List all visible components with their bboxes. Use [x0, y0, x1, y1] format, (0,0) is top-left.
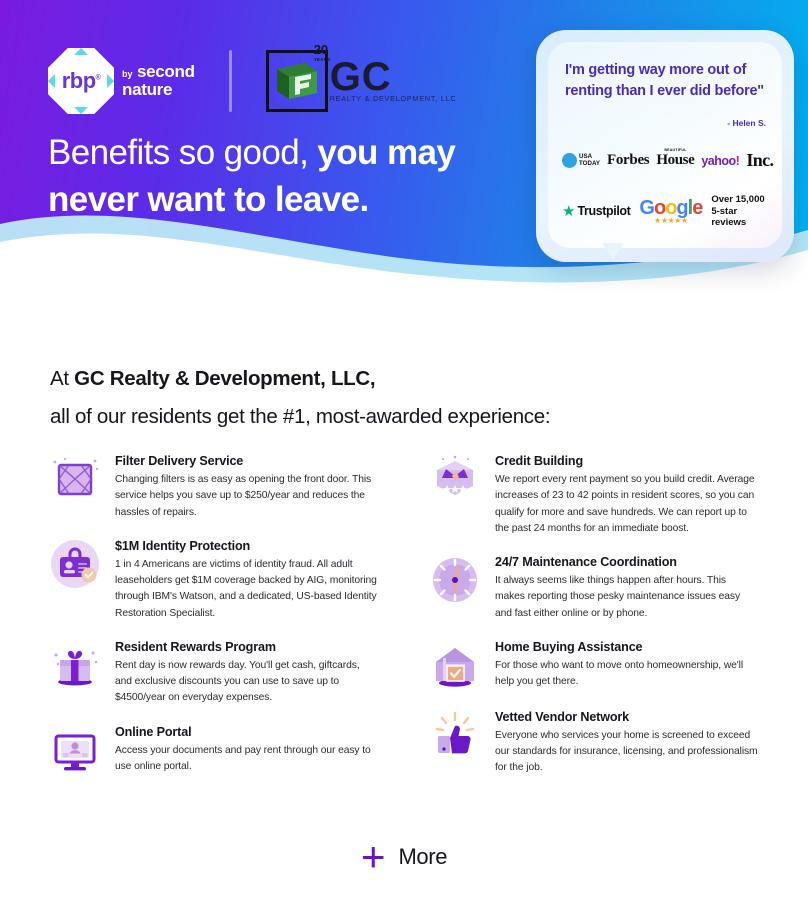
review-count-line1: Over 15,000	[711, 194, 772, 206]
review-logo-row: ★ Trustpilot Google ★★★★★ Over 15,000 5-…	[562, 194, 772, 229]
benefit-description: 1 in 4 Americans are victims of identity…	[115, 557, 378, 622]
trustpilot-logo-icon: ★ Trustpilot	[562, 204, 630, 219]
review-count-text: Over 15,000 5-star reviews	[711, 194, 772, 229]
benefit-title: 24/7 Maintenance Coordination	[495, 555, 758, 569]
hero-banner: rbp® by second nature GC REALTY & DEVELO…	[0, 0, 808, 300]
benefit-body: Online Portal Access your documents and …	[115, 723, 378, 776]
hero-headline-part2: you may	[317, 133, 455, 172]
usa-today-text: USA TODAY	[579, 154, 600, 167]
benefit-body: Resident Rewards Program Rent day is now…	[115, 638, 378, 707]
logo-divider	[229, 50, 232, 112]
benefit-item-resident-rewards: Resident Rewards Program Rent day is now…	[48, 638, 378, 707]
second-nature-line1: second	[137, 62, 195, 81]
benefit-title: Filter Delivery Service	[115, 454, 378, 468]
gc-initials: GC	[330, 59, 457, 95]
benefit-description: Rent day is now rewards day. You'll get …	[115, 658, 378, 707]
benefit-body: Filter Delivery Service Changing filters…	[115, 452, 378, 521]
benefit-item-identity-protection: $1M Identity Protection 1 in 4 Americans…	[48, 537, 378, 622]
benefit-title: $1M Identity Protection	[115, 539, 378, 553]
benefit-item-vendor-network: Vetted Vendor Network Everyone who servi…	[428, 708, 758, 777]
house-sign-icon	[428, 638, 482, 692]
heading-company: GC Realty & Development, LLC,	[74, 367, 375, 390]
clock-icon	[428, 553, 482, 607]
plus-icon[interactable]: +	[361, 840, 386, 874]
benefit-body: Credit Building We report every rent pay…	[495, 452, 758, 537]
usa-today-logo-icon: USA TODAY	[562, 153, 600, 168]
benefit-description: For those who want to move onto homeowne…	[495, 658, 758, 691]
forbes-logo-icon: Forbes	[607, 152, 649, 169]
testimonial-card-inner: I'm getting way more out of renting than…	[548, 42, 782, 248]
benefit-title: Credit Building	[495, 454, 758, 468]
benefit-description: Everyone who services your home is scree…	[495, 728, 758, 777]
brand-logo-row: rbp® by second nature GC REALTY & DEVELO…	[48, 45, 456, 117]
gc-subtitle: REALTY & DEVELOPMENT, LLC	[330, 96, 457, 102]
rbp-logo-icon: rbp®	[48, 48, 114, 114]
testimonial-card: I'm getting way more out of renting than…	[536, 30, 794, 262]
gc-text-block: GC REALTY & DEVELOPMENT, LLC	[330, 59, 457, 102]
heading-prefix: At	[50, 367, 74, 390]
credit-badge-icon	[428, 452, 482, 506]
section-heading: At GC Realty & Development, LLC, all of …	[50, 360, 750, 436]
yahoo-exclamation: !	[736, 154, 740, 168]
usa-today-dot	[562, 153, 577, 168]
rbp-wordmark: rbp®	[62, 68, 101, 94]
benefit-item-online-portal: Online Portal Access your documents and …	[48, 723, 378, 777]
benefit-body: 24/7 Maintenance Coordination It always …	[495, 553, 758, 622]
benefits-column-right: Credit Building We report every rent pay…	[428, 452, 758, 793]
benefit-body: Vetted Vendor Network Everyone who servi…	[495, 708, 758, 777]
benefit-item-maintenance: 24/7 Maintenance Coordination It always …	[428, 553, 758, 622]
more-label[interactable]: More	[399, 844, 448, 870]
heading-line2: all of our residents get the #1, most-aw…	[50, 398, 750, 436]
second-nature-line2: nature	[122, 81, 195, 99]
hero-headline-part1: Benefits so good,	[48, 133, 317, 172]
benefit-description: Access your documents and pay rent throu…	[115, 743, 378, 776]
house-beautiful-super: BEAUTIFUL	[664, 148, 686, 152]
trustpilot-label: Trustpilot	[577, 204, 630, 218]
filter-icon	[48, 452, 102, 506]
thumbs-up-icon	[428, 708, 482, 762]
second-nature-wordmark: by second nature	[122, 63, 195, 99]
hero-headline: Benefits so good, you may never want to …	[48, 130, 518, 223]
benefit-body: Home Buying Assistance For those who wan…	[495, 638, 758, 691]
gc-book-mark-icon	[275, 61, 319, 101]
testimonial-attribution: - Helen S.	[727, 118, 766, 128]
benefit-item-filter-delivery: Filter Delivery Service Changing filters…	[48, 452, 378, 521]
hero-headline-line2: never want to leave.	[48, 177, 518, 224]
benefit-title: Online Portal	[115, 725, 378, 739]
benefit-description: It always seems like things happen after…	[495, 573, 758, 622]
gc-anniversary-sub: YEARS	[314, 57, 331, 62]
benefits-column-left: Filter Delivery Service Changing filters…	[48, 452, 378, 793]
benefit-title: Vetted Vendor Network	[495, 710, 758, 724]
benefit-item-credit-building: Credit Building We report every rent pay…	[428, 452, 758, 537]
second-nature-by: by	[122, 70, 133, 79]
more-row[interactable]: + More	[0, 840, 808, 874]
benefit-title: Home Buying Assistance	[495, 640, 758, 654]
benefit-description: We report every rent payment so you buil…	[495, 472, 758, 537]
review-count-line2: 5-star reviews	[711, 206, 772, 229]
google-logo-block: Google ★★★★★	[639, 198, 702, 225]
inc-logo-icon: Inc.	[746, 150, 773, 171]
yahoo-logo-icon: yahoo!	[701, 154, 739, 168]
benefit-title: Resident Rewards Program	[115, 640, 378, 654]
google-logo-icon: Google	[639, 198, 702, 218]
benefit-item-home-buying: Home Buying Assistance For those who wan…	[428, 638, 758, 692]
gc-anniversary-badge: 20 YEARS	[314, 42, 331, 62]
press-logo-row: USA TODAY Forbes BEAUTIFUL House yahoo! …	[562, 150, 772, 171]
testimonial-quote: I'm getting way more out of renting than…	[565, 60, 768, 102]
monitor-icon	[48, 723, 102, 777]
benefit-body: $1M Identity Protection 1 in 4 Americans…	[115, 537, 378, 622]
trustpilot-star-icon: ★	[562, 204, 575, 219]
house-beautiful-logo-icon: BEAUTIFUL House	[656, 152, 694, 169]
gift-icon	[48, 638, 102, 692]
identity-badge-icon	[48, 537, 102, 591]
gc-realty-logo: GC REALTY & DEVELOPMENT, LLC 20 YEARS	[266, 45, 457, 117]
benefit-description: Changing filters is as easy as opening t…	[115, 472, 378, 521]
